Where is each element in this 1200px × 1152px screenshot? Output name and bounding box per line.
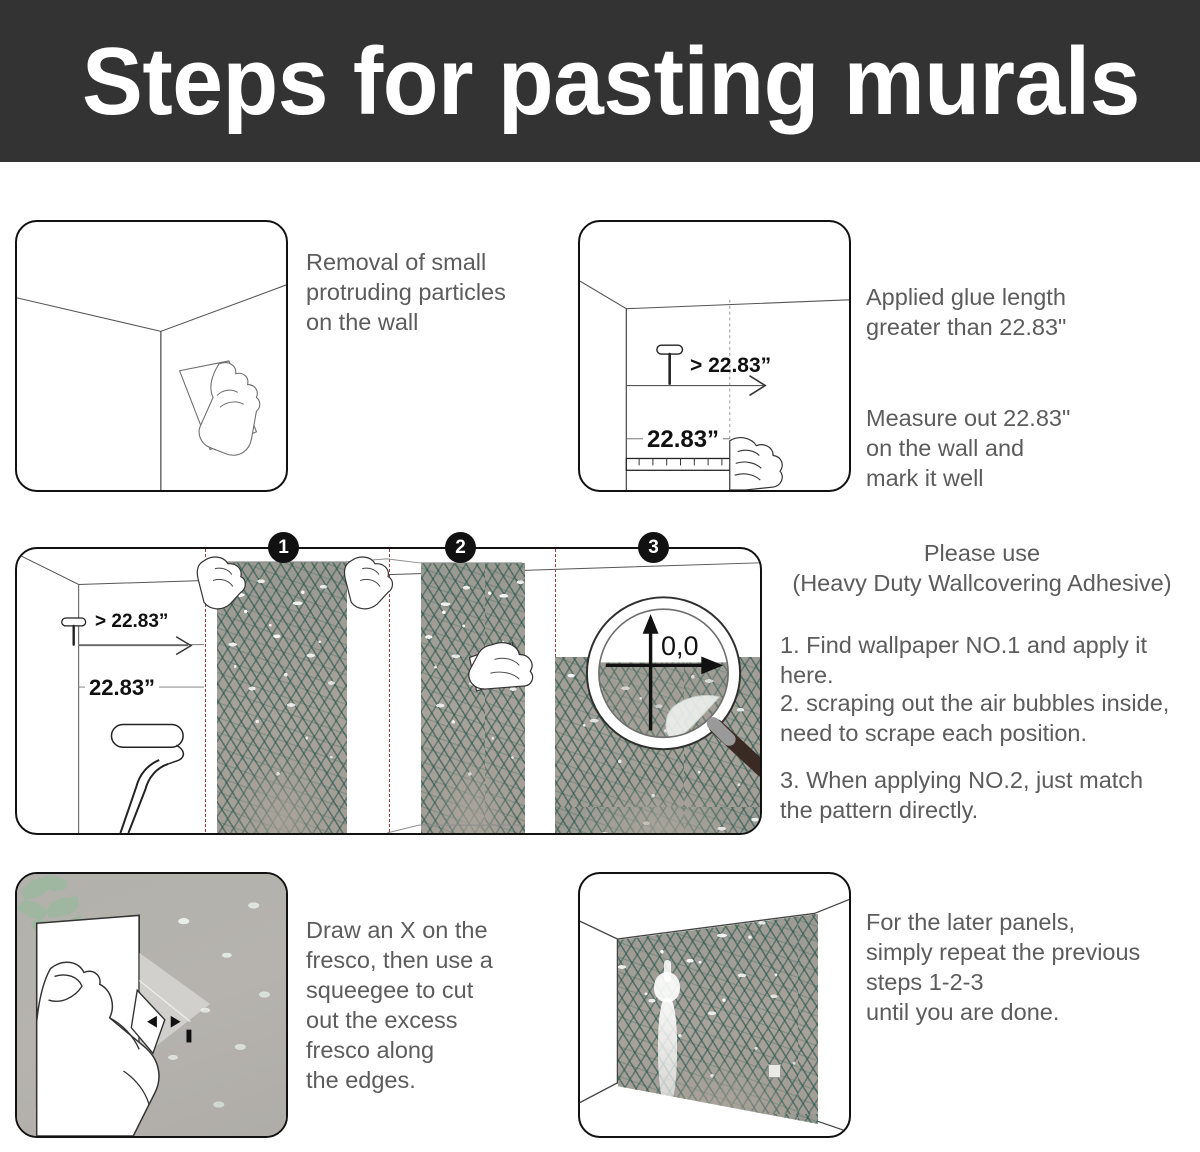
panel-apply-strips: > 22.83” 22.83” 0,0	[15, 547, 762, 835]
caption-remove-particles: Removal of small protruding particles on…	[306, 247, 556, 337]
panel-apply-glue: > 22.83” 22.83”	[578, 220, 851, 492]
panel-remove-particles	[15, 220, 288, 492]
strip-instruction-2: 2. scraping out the air bubbles inside, …	[780, 688, 1192, 748]
step-badge-3: 3	[638, 532, 669, 563]
label-measure-22: 22.83”	[85, 675, 159, 701]
panel-trim-edges	[15, 872, 288, 1138]
caption-trim-edges: Draw an X on the fresco, then use a sque…	[306, 915, 556, 1095]
hand-with-scraper-icon	[17, 222, 286, 490]
strip-instruction-3: 3. When applying NO.2, just match the pa…	[780, 765, 1192, 825]
caption-measure-wall: Measure out 22.83" on the wall and mark …	[866, 403, 1186, 493]
panel-repeat-steps	[578, 872, 851, 1138]
peacock-neck	[664, 960, 671, 982]
light-switch-icon	[768, 1064, 781, 1078]
label-glue-length: > 22.83”	[95, 611, 168, 633]
caption-applied-glue: Applied glue length greater than 22.83"	[866, 282, 1186, 342]
page-title: Steps for pasting murals	[82, 30, 1140, 134]
header-bar: Steps for pasting murals	[0, 0, 1200, 162]
adhesive-heading-line2: (Heavy Duty Wallcovering Adhesive)	[772, 568, 1192, 598]
label-origin-00: 0,0	[661, 631, 699, 662]
strip-instruction-1: 1. Find wallpaper NO.1 and apply it here…	[780, 630, 1192, 690]
tick-marker-icon	[17, 874, 286, 1136]
peacock-tail	[658, 998, 677, 1108]
label-measure-22: 22.83”	[643, 426, 723, 454]
step-badge-2: 2	[445, 532, 476, 563]
hand-icon	[730, 438, 782, 490]
adhesive-heading: Please use (Heavy Duty Wallcovering Adhe…	[772, 538, 1192, 598]
step-badge-1: 1	[268, 532, 299, 563]
paint-roller-icon	[657, 345, 683, 383]
adhesive-heading-line1: Please use	[772, 538, 1192, 568]
label-glue-length: > 22.83”	[690, 354, 771, 378]
caption-repeat-steps: For the later panels, simply repeat the …	[866, 907, 1196, 1027]
